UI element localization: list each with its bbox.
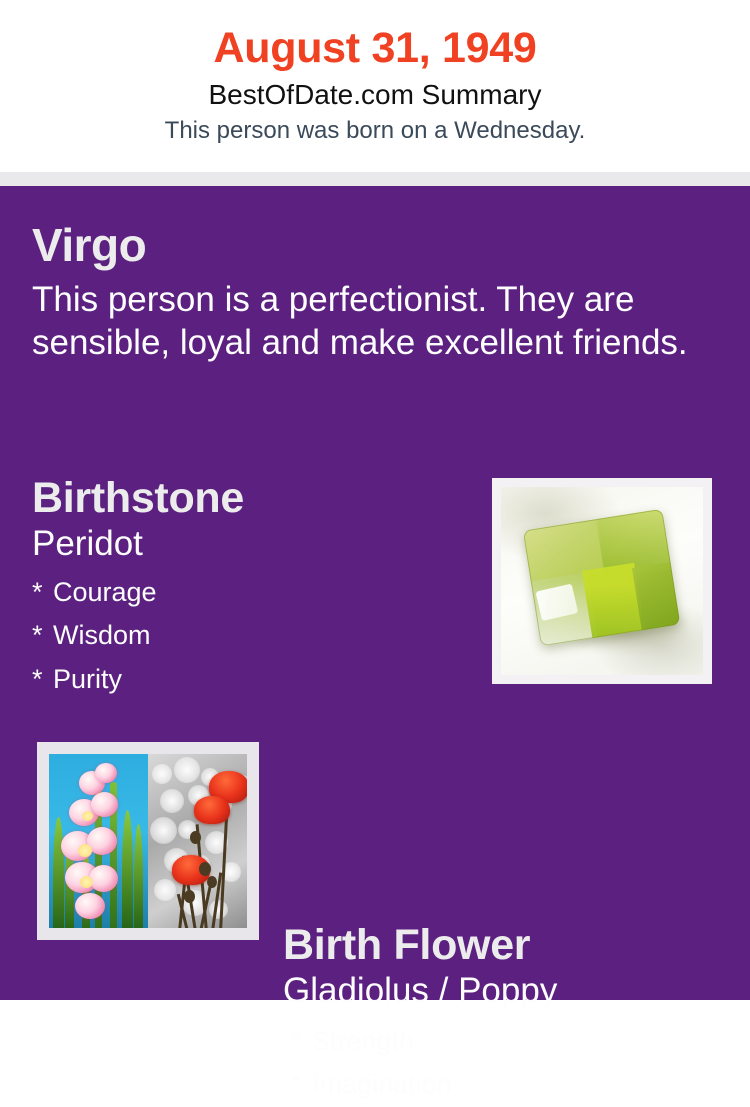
birthstone-name: Peridot: [32, 522, 472, 564]
birthstone-trait-list: *Courage *Wisdom *Purity: [32, 565, 472, 702]
bullet-icon: *: [32, 614, 53, 658]
list-item: *Imagination: [291, 1063, 733, 1107]
list-item: *Purity: [32, 658, 472, 702]
list-item: *Courage: [32, 571, 472, 615]
bullet-icon: *: [32, 571, 53, 615]
site-subtitle: BestOfDate.com Summary: [0, 71, 750, 111]
zodiac-sign-name: Virgo: [32, 220, 692, 272]
trait-label: Imagination: [312, 1069, 452, 1099]
zodiac-section: Virgo This person is a perfectionist. Th…: [32, 220, 692, 364]
trait-label: Courage: [53, 577, 157, 607]
peridot-gemstone-image: [501, 487, 703, 675]
gladiolus-photo-half: [49, 754, 148, 928]
trait-label: Wisdom: [53, 620, 151, 650]
list-item: *Wisdom: [32, 614, 472, 658]
header: August 31, 1949 BestOfDate.com Summary T…: [0, 0, 750, 172]
header-divider: [0, 172, 750, 186]
birth-flower-section: Birth Flower Gladiolus / Poppy *Strength…: [283, 922, 733, 1107]
summary-card: August 31, 1949 BestOfDate.com Summary T…: [0, 0, 750, 1000]
gemstone-shape: [523, 509, 681, 646]
birthstone-section: Birthstone Peridot *Courage *Wisdom *Pur…: [32, 475, 472, 702]
bullet-icon: *: [291, 1063, 312, 1107]
birthstone-image-frame: [492, 478, 712, 684]
birth-flower-trait-list: *Strength *Imagination: [283, 1012, 733, 1107]
trait-label: Strength: [312, 1026, 414, 1056]
birthstone-heading: Birthstone: [32, 475, 472, 522]
bullet-icon: *: [291, 1020, 312, 1064]
birth-flower-image-frame: [37, 742, 259, 940]
zodiac-description: This person is a perfectionist. They are…: [32, 272, 692, 365]
page-title: August 31, 1949: [0, 0, 750, 71]
bullet-icon: *: [32, 658, 53, 702]
trait-label: Purity: [53, 664, 122, 694]
birth-flower-heading: Birth Flower: [283, 922, 733, 969]
birth-day-note: This person was born on a Wednesday.: [0, 111, 750, 144]
list-item: *Strength: [291, 1020, 733, 1064]
gladiolus-and-poppy-image: [49, 754, 247, 928]
poppy-photo-half: [148, 754, 247, 928]
birth-flower-name: Gladiolus / Poppy: [283, 969, 733, 1011]
